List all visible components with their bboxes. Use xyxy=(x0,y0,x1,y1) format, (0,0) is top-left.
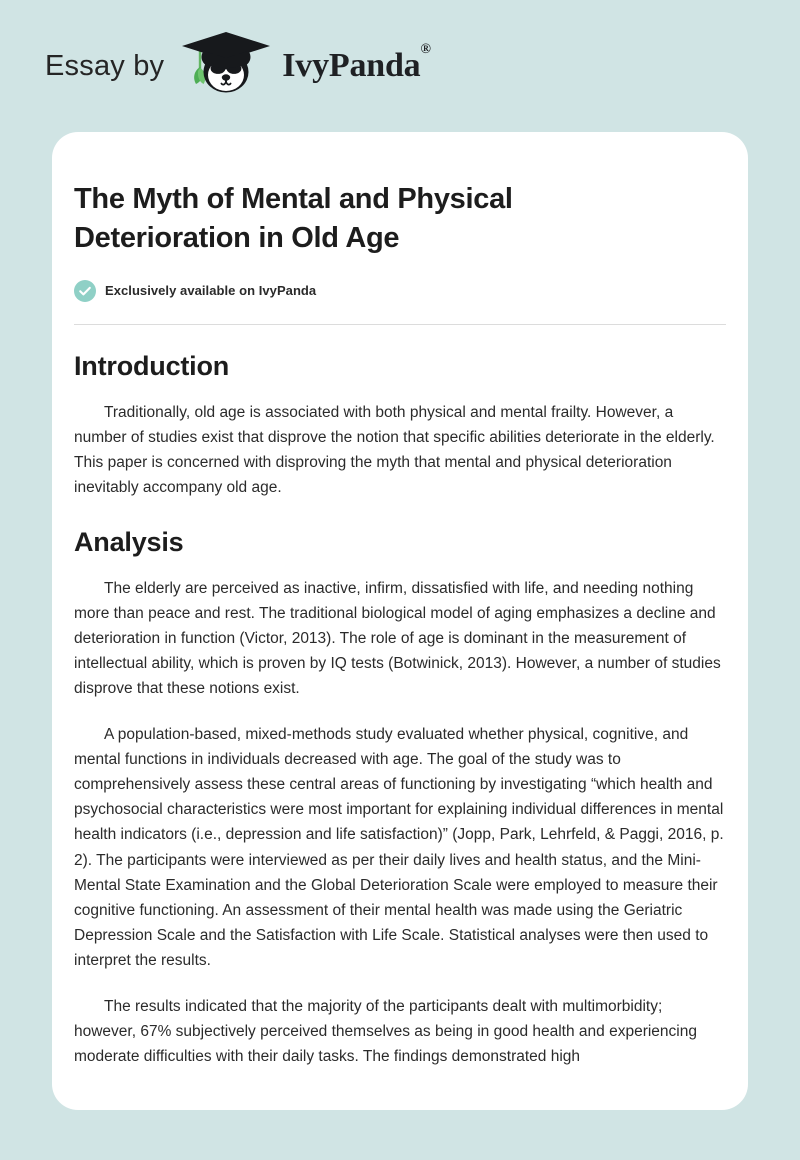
paragraph: Traditionally, old age is associated wit… xyxy=(74,400,726,501)
page-header: Essay by xyxy=(0,0,800,132)
essay-by-label: Essay by xyxy=(45,52,164,81)
section-heading-introduction: Introduction xyxy=(74,351,726,382)
check-circle-icon xyxy=(74,280,96,302)
panda-graduation-cap-logo-icon xyxy=(178,30,274,102)
paragraph: The elderly are perceived as inactive, i… xyxy=(74,576,726,702)
essay-card: The Myth of Mental and Physical Deterior… xyxy=(52,132,748,1110)
badge-label: Exclusively available on IvyPanda xyxy=(105,283,316,298)
title-divider xyxy=(74,324,726,325)
section-heading-analysis: Analysis xyxy=(74,527,726,558)
paragraph: The results indicated that the majority … xyxy=(74,994,726,1070)
page-title: The Myth of Mental and Physical Deterior… xyxy=(74,180,634,258)
paragraph: A population-based, mixed-methods study … xyxy=(74,722,726,974)
registered-trademark-symbol: ® xyxy=(420,42,430,57)
wordmark-text: IvyPanda xyxy=(282,47,420,84)
ivypanda-wordmark: IvyPanda® xyxy=(282,49,430,83)
exclusive-availability-badge: Exclusively available on IvyPanda xyxy=(74,280,726,302)
brand-logo-row[interactable]: Essay by xyxy=(45,30,431,102)
essay-card-content: The Myth of Mental and Physical Deterior… xyxy=(74,180,726,1069)
